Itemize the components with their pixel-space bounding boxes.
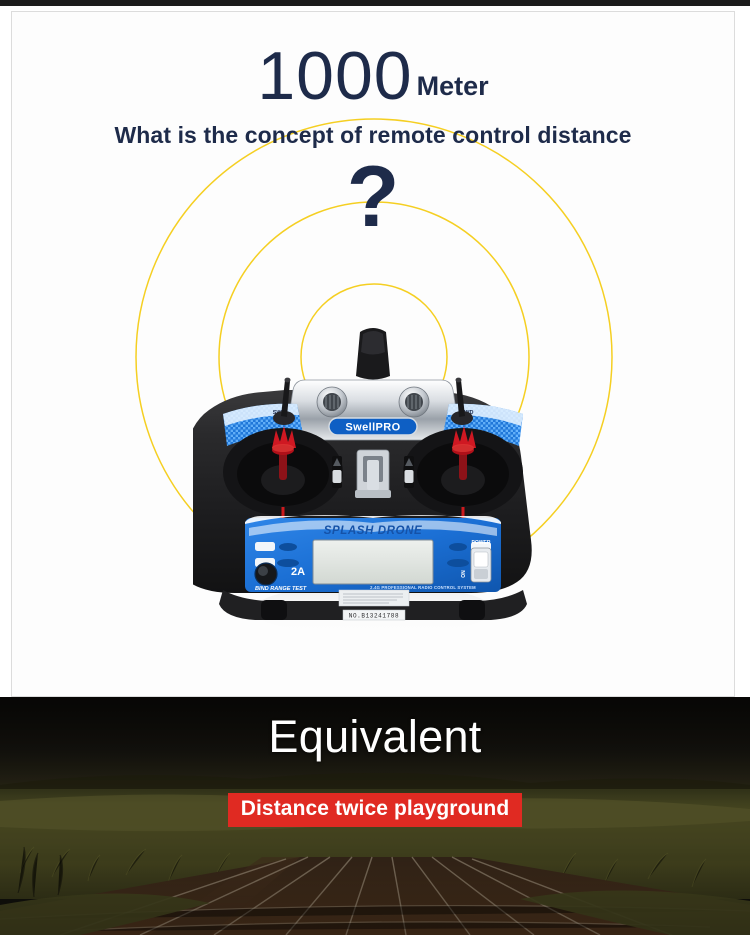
right-button-legend-2 bbox=[447, 559, 469, 567]
power-label: POWER bbox=[472, 540, 491, 546]
trim-slider-right[interactable] bbox=[404, 456, 414, 488]
brand-badge-label: SwellPRO bbox=[345, 422, 400, 434]
antenna-highlight bbox=[361, 331, 385, 355]
bind-range-test-label: BIND RANGE TEST bbox=[255, 586, 307, 592]
left-latch bbox=[261, 600, 287, 620]
hero-title-row: 1000Meter bbox=[12, 42, 734, 110]
lcd-screen bbox=[313, 540, 433, 584]
power-switch[interactable] bbox=[471, 548, 491, 582]
question-mark-glyph: ? bbox=[12, 154, 734, 240]
left-button-legend-1 bbox=[279, 543, 297, 551]
top-accent-bar bbox=[0, 0, 750, 6]
trim-knob-left[interactable] bbox=[317, 387, 347, 417]
distance-value: 1000 bbox=[257, 38, 412, 114]
radio-system-label: 2.4G PROFESSIONAL RADIO CONTROL SYSTEM bbox=[370, 585, 476, 590]
face-button-left-1[interactable] bbox=[255, 542, 275, 551]
spec-sticker bbox=[339, 590, 409, 606]
trim-knob-right[interactable] bbox=[399, 387, 429, 417]
neck-strap-bracket bbox=[355, 450, 391, 498]
remote-controller-svg: SwellPRO SWA SWD bbox=[193, 322, 553, 642]
hero-subtitle: What is the concept of remote control di… bbox=[12, 122, 734, 149]
hero-panel: 1000Meter What is the concept of remote … bbox=[11, 11, 735, 697]
product-infographic-page: 1000Meter What is the concept of remote … bbox=[0, 0, 750, 935]
trim-slider-left[interactable] bbox=[332, 456, 342, 488]
equivalent-title: Equivalent bbox=[0, 711, 750, 763]
bind-button[interactable] bbox=[255, 563, 277, 585]
hero-heading-block: 1000Meter What is the concept of remote … bbox=[12, 42, 734, 149]
right-button-legend-1 bbox=[449, 543, 467, 551]
current-rating-label: 2A bbox=[291, 566, 305, 578]
right-latch bbox=[459, 600, 485, 620]
remote-controller-image: SwellPRO SWA SWD bbox=[193, 322, 553, 642]
serial-number-label: NO.B13241788 bbox=[349, 612, 399, 619]
faceplate-title: SPLASH DRONE bbox=[324, 525, 423, 537]
power-state-label: ON bbox=[461, 570, 467, 578]
comparison-badge-row: Distance twice playground bbox=[0, 793, 750, 827]
distance-unit: Meter bbox=[417, 71, 489, 101]
comparison-badge: Distance twice playground bbox=[228, 793, 523, 827]
comparison-photo-panel: Equivalent Distance twice playground bbox=[0, 697, 750, 935]
